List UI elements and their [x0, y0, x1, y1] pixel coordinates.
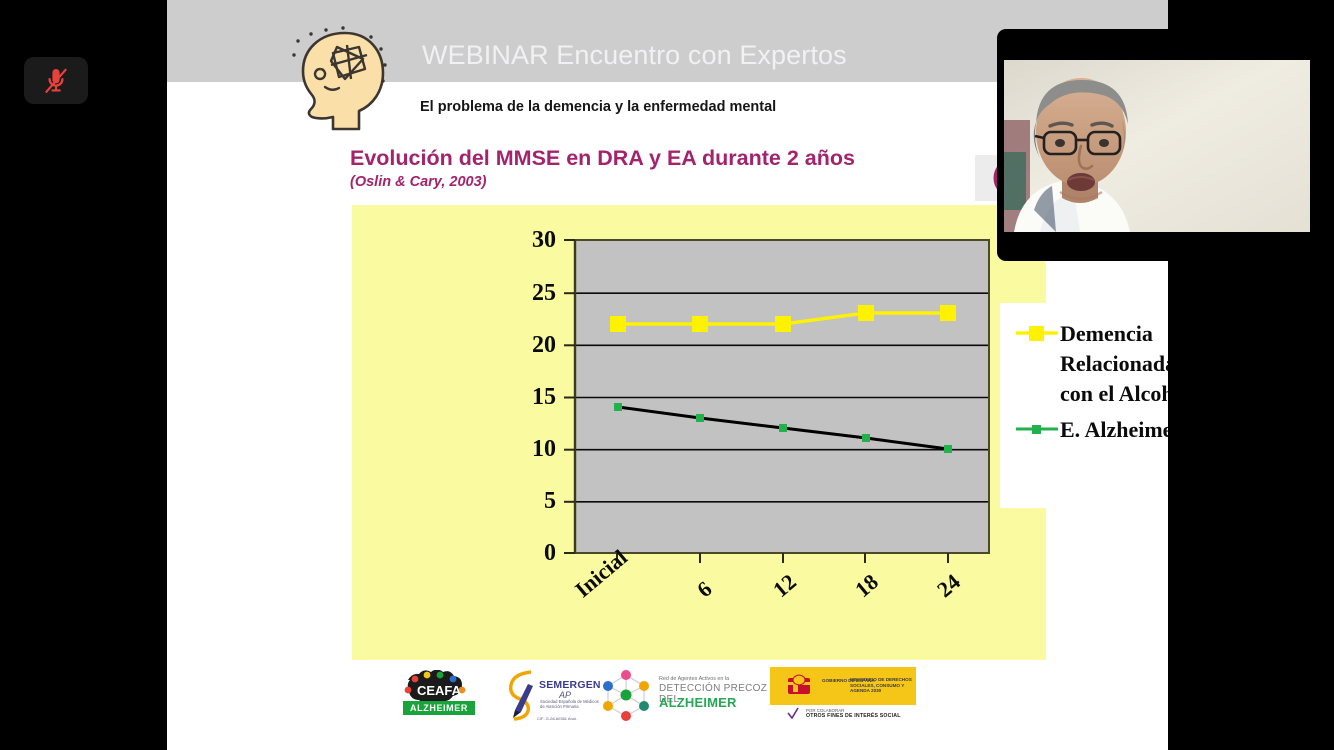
legend-label-dra-line3: con el Alcohol: [1060, 379, 1168, 409]
legend-swatch-yellow-square-icon: [1014, 319, 1060, 347]
check-x-icon: [786, 706, 800, 720]
semergen-swoosh-icon: [505, 668, 539, 722]
red-agentes-line3: ALZHEIMER: [659, 695, 737, 710]
microphone-mute-button[interactable]: [24, 57, 88, 104]
presenter-webcam-feed: [1004, 60, 1310, 232]
legend-label-alzheimer: E. Alzheimer: [1060, 415, 1168, 445]
ceafa-logo: CEAFA ALZHEIMER: [400, 670, 478, 720]
y-tick-10: 10: [510, 436, 556, 463]
y-tick-15: 15: [510, 384, 556, 411]
gobierno-espana-logo: GOBIERNO DE ESPAÑA MINISTERIO DE DERECHO…: [770, 667, 916, 721]
ministerio-label: MINISTERIO DE DERECHOS SOCIALES, CONSUMO…: [850, 677, 914, 694]
red-agentes-logo: Red de Agentes Activos en la DETECCIÓN P…: [597, 667, 777, 723]
semergen-sub: Sociedad Española de Médicos de Atención…: [540, 699, 600, 709]
presenter-video-tile[interactable]: [997, 29, 1310, 261]
y-tick-0: 0: [510, 540, 556, 567]
presenter-portrait: [1004, 60, 1310, 232]
red-agentes-line1: Red de Agentes Activos en la: [659, 676, 729, 682]
slide-header-title: WEBINAR Encuentro con Expertos: [422, 40, 847, 71]
legend-label-dra-line2: Relacionada: [1060, 349, 1168, 379]
ceafa-gear-icon: CEAFA: [400, 670, 478, 704]
semergen-logo: SEMERGEN AP Sociedad Española de Médicos…: [505, 668, 601, 722]
chart-title: Evolución del MMSE en DRA y EA durante 2…: [350, 146, 855, 171]
spain-coat-of-arms-icon: [784, 674, 814, 698]
chart-panel: 30 25 20 15 10 5 0 Inicial 6 12 18 24: [352, 205, 1046, 660]
y-tick-20: 20: [510, 332, 556, 359]
y-tick-30: 30: [510, 227, 556, 254]
legend-item-alzheimer: E. Alzheimer: [1014, 415, 1168, 445]
chart-source-citation: (Oslin & Cary, 2003): [350, 174, 486, 190]
y-tick-25: 25: [510, 280, 556, 307]
legend-label-dra-line1: Demencia: [1060, 319, 1168, 349]
legend-swatch-green-marker-icon: [1014, 415, 1060, 443]
chart-legend: Demencia Relacionada con el Alcohol E. A…: [1000, 303, 1168, 508]
head-with-tangled-brain-icon: [289, 25, 397, 137]
network-nodes-icon: [597, 667, 655, 723]
legend-item-dra: Demencia Relacionada con el Alcohol: [1014, 319, 1168, 409]
ceafa-alzheimer-band: ALZHEIMER: [403, 701, 475, 715]
slide-subtitle: El problema de la demencia y la enfermed…: [420, 99, 776, 115]
semergen-cif: CIF: G-28-60361 Anul.: [537, 716, 577, 721]
meeting-screen: WEBINAR Encuentro con Expertos El proble…: [0, 0, 1334, 750]
microphone-muted-icon: [43, 66, 69, 96]
fines-label: OTROS FINES DE INTERÉS SOCIAL: [806, 713, 901, 719]
y-tick-5: 5: [510, 488, 556, 515]
svg-text:CEAFA: CEAFA: [417, 683, 462, 698]
footer-logo-strip: CEAFA ALZHEIMER SEMERGEN AP Sociedad Esp…: [167, 665, 1168, 725]
